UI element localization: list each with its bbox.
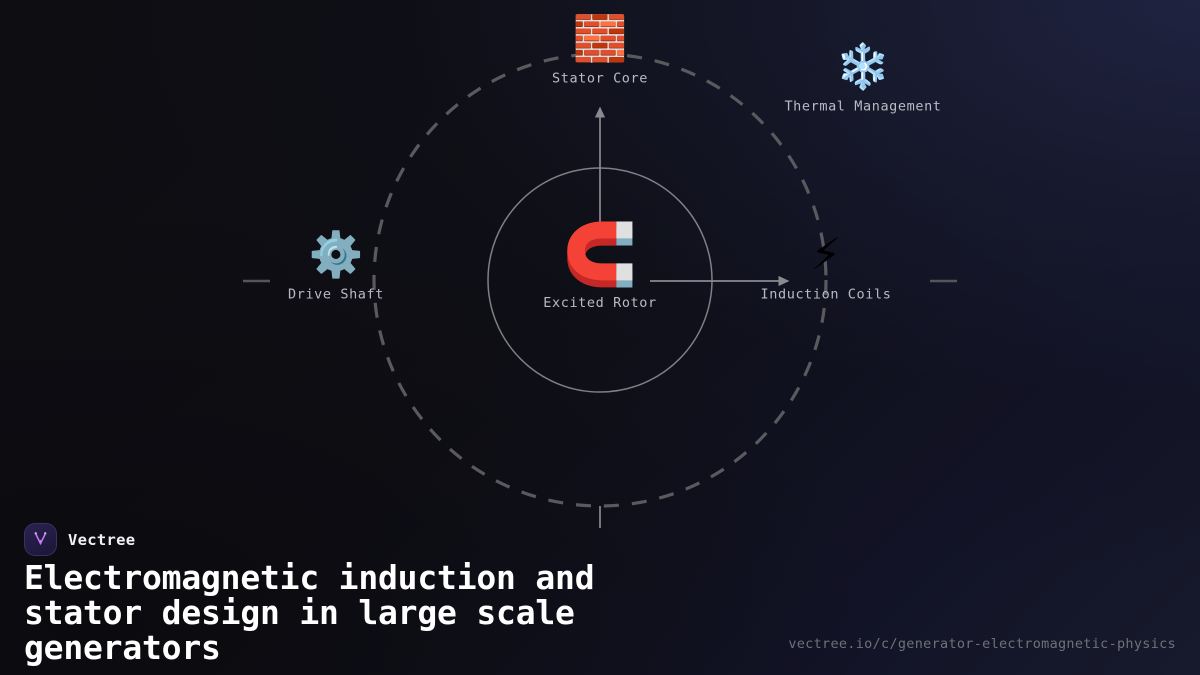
- node-label-excited-rotor: Excited Rotor: [543, 295, 656, 311]
- magnet-icon: 🧲: [563, 225, 638, 285]
- node-thermal-management[interactable]: ❄️ Thermal Management: [748, 46, 978, 115]
- node-induction-coils[interactable]: ⚡ Induction Coils: [711, 234, 941, 303]
- brand: Vectree: [24, 523, 135, 556]
- node-label-stator-core: Stator Core: [552, 71, 648, 87]
- node-label-induction-coils: Induction Coils: [761, 287, 892, 303]
- node-drive-shaft[interactable]: ⚙️ Drive Shaft: [221, 234, 451, 303]
- node-stator-core[interactable]: 🧱 Stator Core: [485, 18, 715, 87]
- brand-name: Vectree: [68, 531, 135, 549]
- vectree-branch-logo: [24, 523, 57, 556]
- node-label-thermal-management: Thermal Management: [784, 99, 941, 115]
- page-title: Electromagnetic induction and stator des…: [24, 561, 724, 666]
- brick-wall-icon: 🧱: [573, 18, 628, 62]
- footer: Vectree Electromagnetic induction and st…: [0, 515, 1200, 675]
- node-excited-rotor[interactable]: 🧲 Excited Rotor: [485, 225, 715, 311]
- site-url: vectree.io/c/generator-electromagnetic-p…: [788, 636, 1176, 652]
- radial-diagram: 🧲 Excited Rotor 🧱 Stator Core ❄️ Thermal…: [0, 0, 1200, 560]
- high-voltage-icon: ⚡: [811, 234, 842, 278]
- snowflake-icon: ❄️: [836, 46, 891, 90]
- node-label-drive-shaft: Drive Shaft: [288, 287, 384, 303]
- gear-icon: ⚙️: [309, 234, 364, 278]
